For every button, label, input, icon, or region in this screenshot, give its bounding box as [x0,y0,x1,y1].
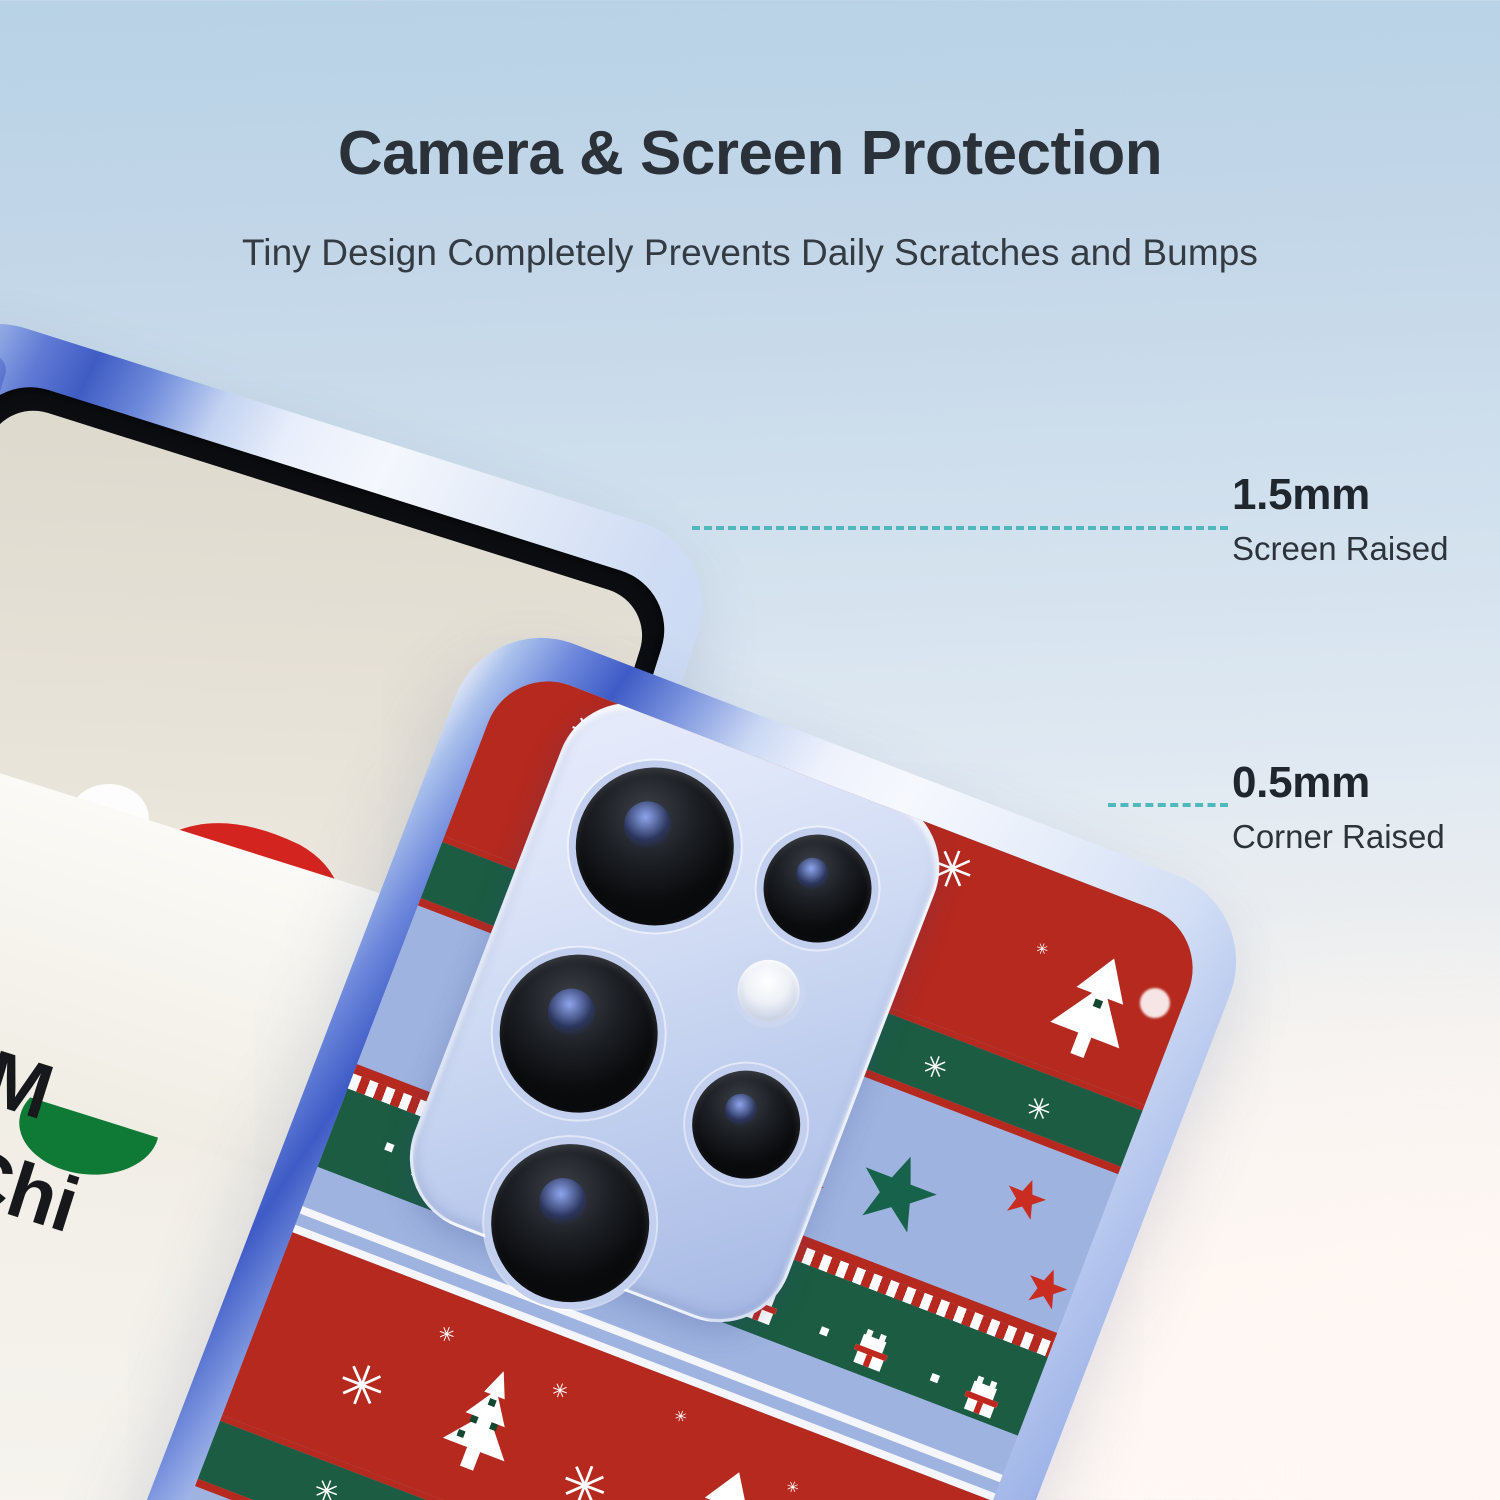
page-subtitle: Tiny Design Completely Prevents Daily Sc… [0,232,1500,274]
camera-lens-main [553,744,757,948]
callout-corner-raised: 0.5mm Corner Raised [1232,758,1445,856]
snowflake-icon: ✳ [917,1050,951,1087]
snowflake-icon: ✳ [672,1408,689,1427]
leader-line-screen-raised [692,526,1228,530]
callout-value: 1.5mm [1232,470,1448,520]
snowflake-icon: ✳ [548,1378,571,1403]
camera-lens-depth [676,1055,816,1195]
leader-line-corner-raised [1108,803,1228,807]
christmas-tree-icon [664,1458,778,1500]
camera-lens-ultrawide [748,819,888,959]
knit-dot [384,1142,394,1152]
snowflake-icon: ✳ [552,1453,616,1500]
snowflake-icon: ✳ [1021,1092,1055,1129]
knit-dot [930,1373,940,1383]
snowflake-icon: ✳ [435,1322,458,1347]
snowflake-icon: ✳ [1033,940,1050,959]
snowflake-icon: ✳ [309,1474,343,1500]
knit-dot [819,1326,829,1336]
callout-caption: Screen Raised [1232,530,1448,568]
led-flash-icon [729,951,809,1031]
callout-value: 0.5mm [1232,758,1445,808]
star-red-icon [1021,1262,1072,1312]
christmas-tree-icon [1039,944,1153,1070]
snowflake-icon: ✳ [784,1479,801,1498]
snowflake-icon: ✳ [329,1353,393,1422]
star-red-icon [1000,1173,1051,1223]
christmas-tree-icon [428,1356,542,1482]
callout-caption: Corner Raised [1232,818,1445,856]
callout-screen-raised: 1.5mm Screen Raised [1232,470,1448,568]
page-title: Camera & Screen Protection [0,118,1500,189]
star-green-icon [849,1143,946,1237]
camera-lens-wide [477,932,681,1136]
